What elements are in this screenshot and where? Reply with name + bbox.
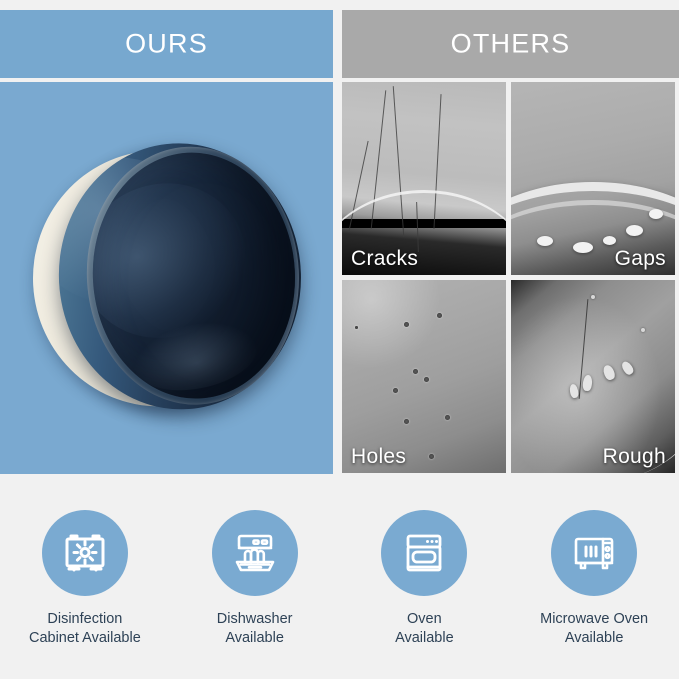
dishwasher-icon (230, 528, 280, 578)
defect-tile-cracks: Cracks (342, 82, 506, 275)
feature-strip: Disinfection Cabinet Available (0, 476, 679, 679)
pinhole (404, 419, 409, 424)
ours-product-panel (0, 82, 333, 474)
pinhole (393, 388, 398, 393)
defect-label-cracks: Cracks (351, 247, 418, 271)
pinhole (429, 454, 434, 459)
ours-column: OURS (0, 10, 333, 474)
pinhole (437, 313, 442, 318)
disinfection-cabinet-icon (60, 528, 110, 578)
oven-icon (399, 528, 449, 578)
glaze-gap-blob (626, 225, 643, 236)
feature-dishwasher: Dishwasher Available (171, 510, 339, 648)
feature-disinfection-cabinet: Disinfection Cabinet Available (1, 510, 169, 648)
others-header: OTHERS (342, 10, 679, 78)
ours-header-label: OURS (0, 29, 333, 60)
feature-label: Microwave Oven Available (540, 610, 648, 648)
feature-oven: Oven Available (340, 510, 508, 648)
feature-icon-badge (42, 510, 128, 596)
defect-photo-grid: Cracks Gaps (342, 82, 679, 474)
product-bowl-image (26, 137, 308, 419)
pinhole (413, 369, 418, 374)
feature-label: Dishwasher Available (217, 610, 293, 648)
defect-tile-gaps: Gaps (511, 82, 675, 275)
defect-label-gaps: Gaps (615, 247, 666, 271)
feature-label: Disinfection Cabinet Available (29, 610, 141, 648)
others-header-label: OTHERS (342, 29, 679, 60)
pinhole (445, 415, 450, 420)
microwave-oven-icon (569, 528, 619, 578)
pinhole (424, 377, 429, 382)
feature-microwave-oven: Microwave Oven Available (510, 510, 678, 648)
feature-icon-badge (212, 510, 298, 596)
defect-label-rough: Rough (603, 445, 666, 469)
defect-tile-holes: Holes (342, 280, 506, 473)
defect-label-holes: Holes (351, 445, 406, 469)
feature-icon-badge (551, 510, 637, 596)
ours-header: OURS (0, 10, 333, 78)
comparison-section: OURS OTHERS (0, 0, 679, 476)
rough-speck (641, 328, 645, 332)
pinhole (355, 326, 358, 329)
defect-tile-rough: Rough (511, 280, 675, 473)
pinhole (404, 322, 409, 327)
feature-icon-badge (381, 510, 467, 596)
others-column: OTHERS Cracks (342, 10, 679, 474)
feature-label: Oven Available (395, 610, 454, 648)
infographic-root: OURS OTHERS (0, 0, 679, 679)
